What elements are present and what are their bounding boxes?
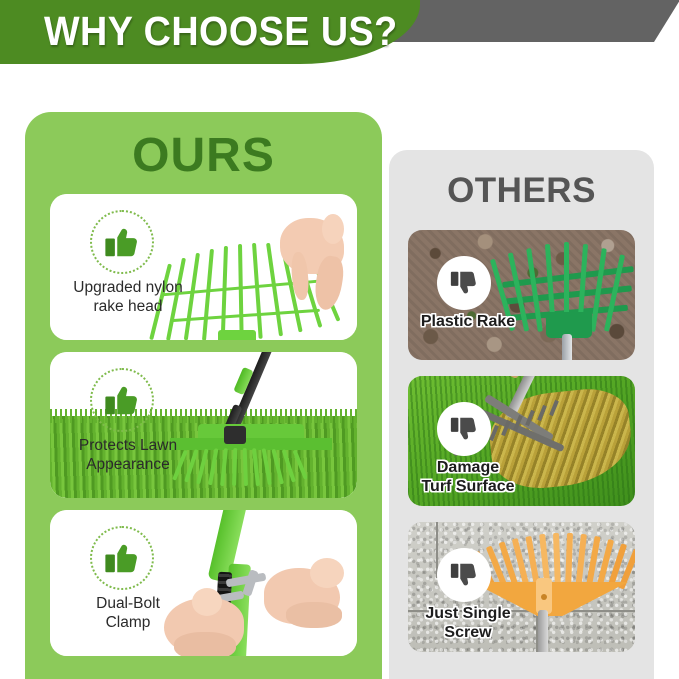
others-card-2-label: Damage Turf Surface bbox=[408, 458, 528, 496]
thumbs-down-icon bbox=[437, 256, 491, 310]
ours-card-1-photo bbox=[50, 194, 357, 340]
thumbs-up-icon bbox=[90, 210, 154, 274]
others-panel: OTHERS bbox=[389, 150, 654, 679]
thumbs-up-icon bbox=[90, 368, 154, 432]
header-banner: WHY CHOOSE US? bbox=[0, 0, 679, 95]
ours-card-1-label: Upgraded nylon rake head bbox=[58, 278, 198, 316]
thumbs-down-icon bbox=[437, 548, 491, 602]
thumbs-up-icon bbox=[90, 526, 154, 590]
ours-card-3[interactable]: Dual-Bolt Clamp bbox=[50, 510, 357, 656]
ours-card-3-label: Dual-Bolt Clamp bbox=[58, 594, 198, 632]
ours-panel: OURS bbox=[25, 112, 382, 679]
ours-card-2-label: Protects Lawn Appearance bbox=[58, 436, 198, 474]
others-card-3-label: Just Single Screw bbox=[408, 604, 528, 642]
ours-card-3-photo bbox=[50, 510, 357, 656]
others-card-3[interactable]: Just Single Screw bbox=[408, 522, 635, 652]
ours-card-1[interactable]: Upgraded nylon rake head bbox=[50, 194, 357, 340]
ours-card-2-photo bbox=[50, 352, 357, 498]
others-card-2[interactable]: Damage Turf Surface bbox=[408, 376, 635, 506]
ours-panel-title: OURS bbox=[25, 131, 382, 181]
thumbs-down-icon bbox=[437, 402, 491, 456]
others-card-1[interactable]: Plastic Rake bbox=[408, 230, 635, 360]
others-panel-title: OTHERS bbox=[389, 172, 654, 210]
page-title: WHY CHOOSE US? bbox=[44, 8, 398, 54]
ours-card-2[interactable]: Protects Lawn Appearance bbox=[50, 352, 357, 498]
others-card-1-label: Plastic Rake bbox=[408, 312, 528, 331]
infographic-root: WHY CHOOSE US? OURS bbox=[0, 0, 679, 679]
